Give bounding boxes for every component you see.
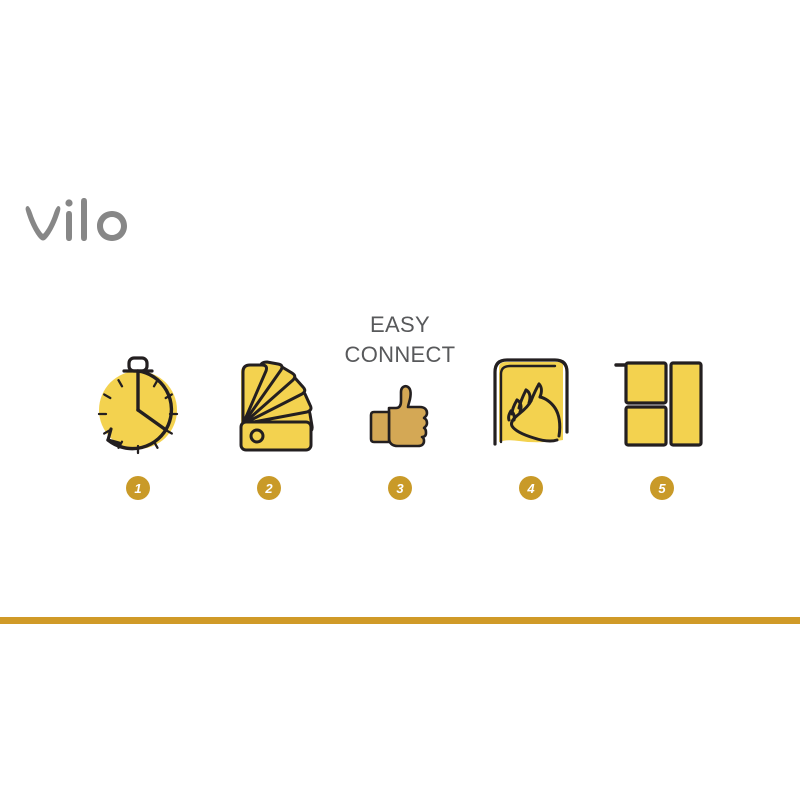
- color-swatch-fan-icon: [217, 348, 321, 456]
- step-3-art: EASY CONNECT: [340, 296, 460, 456]
- step-5-art: [602, 296, 722, 456]
- step-2-art: [209, 296, 329, 456]
- slide-canvas: 1: [0, 0, 800, 800]
- panel-layout-icon: [610, 348, 714, 456]
- bottom-gold-rule: [0, 617, 800, 624]
- hand-wipe-panel-icon: [479, 348, 583, 456]
- step-5-badge: 5: [650, 476, 674, 500]
- step-2: 2: [209, 296, 329, 500]
- easy-connect-caption: EASY CONNECT: [320, 310, 480, 370]
- step-5: 5: [602, 296, 722, 500]
- step-4: 4: [471, 296, 591, 500]
- step-1-art: [78, 296, 198, 456]
- step-1: 1: [78, 296, 198, 500]
- vilo-logo: [24, 198, 144, 244]
- step-2-badge: 2: [257, 476, 281, 500]
- step-1-badge: 1: [126, 476, 150, 500]
- vilo-logo-mark: [24, 198, 144, 244]
- steps-row: 1: [78, 300, 722, 500]
- step-4-art: [471, 296, 591, 456]
- step-3-badge: 3: [388, 476, 412, 500]
- step-4-badge: 4: [519, 476, 543, 500]
- step-3: EASY CONNECT 3: [340, 296, 460, 500]
- stopwatch-icon: [86, 348, 190, 456]
- thumbs-up-icon: [363, 378, 437, 452]
